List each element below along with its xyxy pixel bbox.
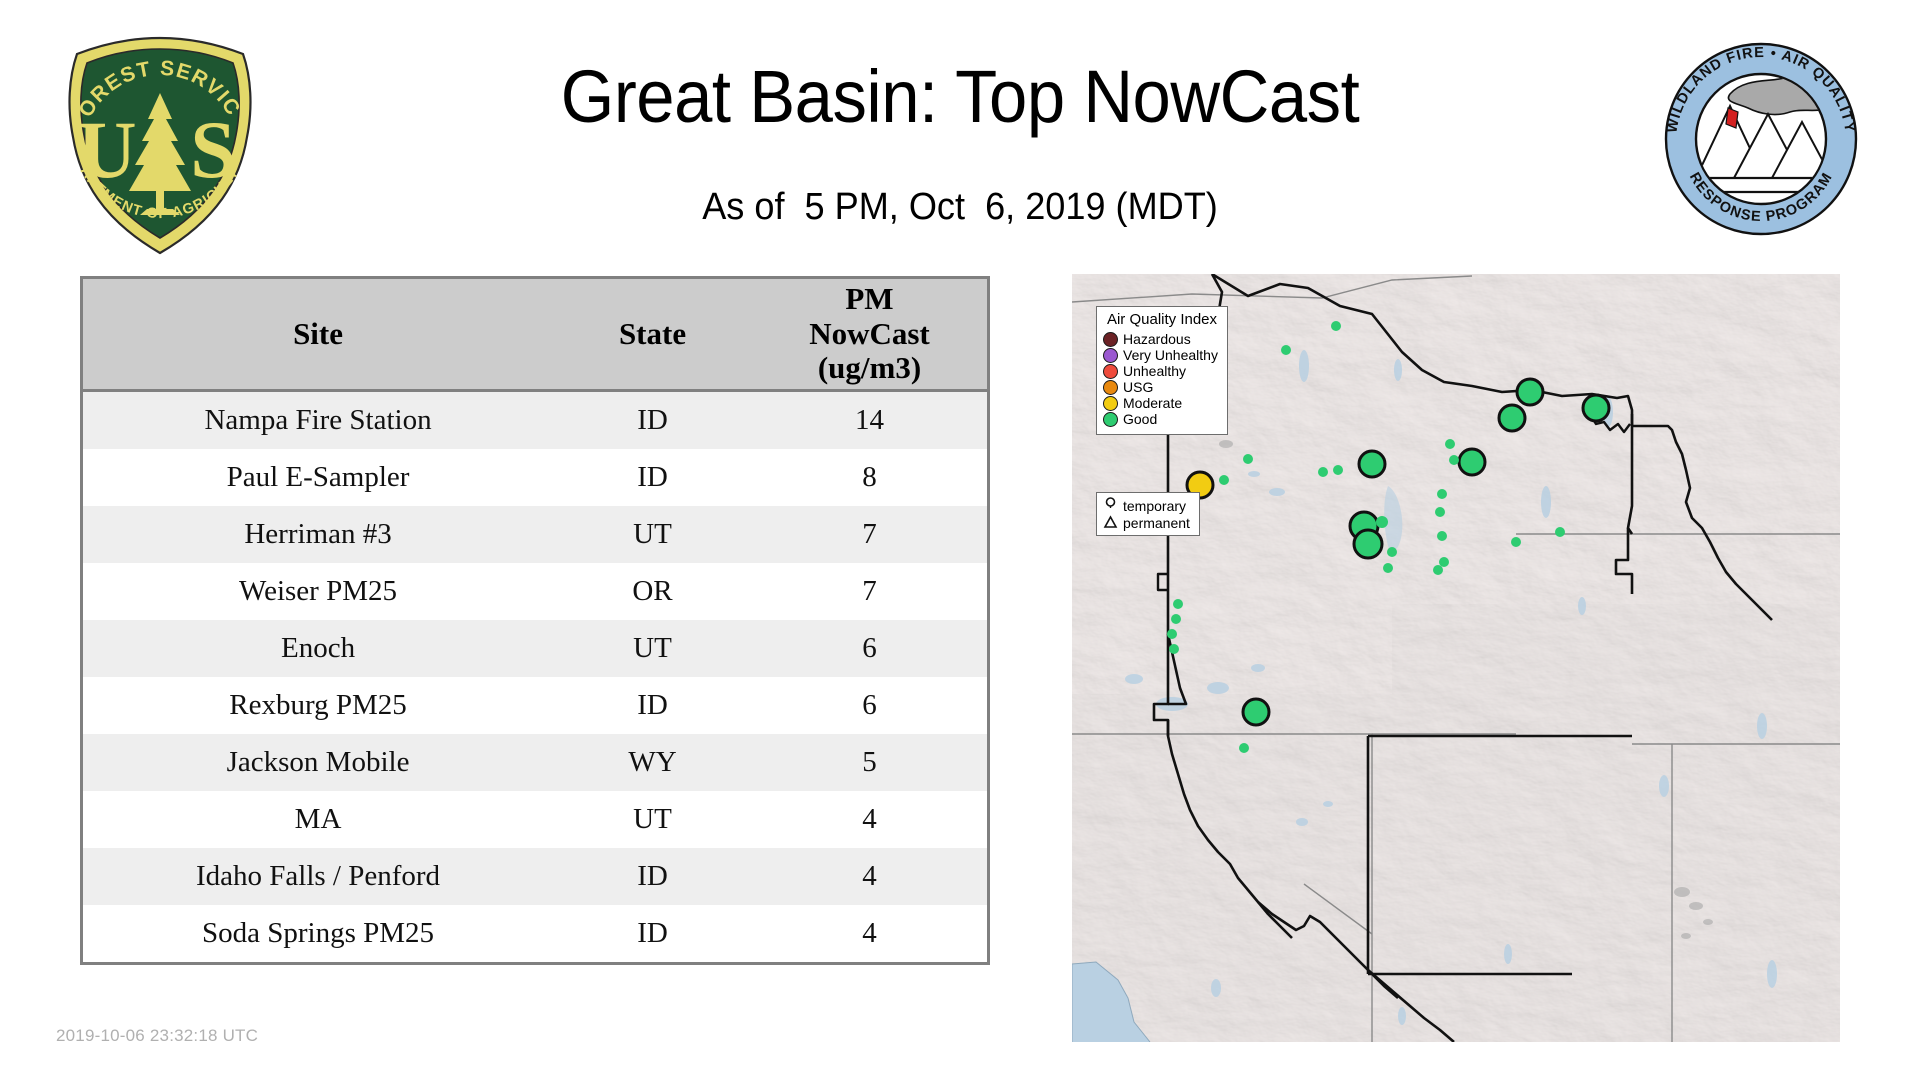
nowcast-table-container: Site State PM NowCast (ug/m3) Nampa Fire… [80,276,990,965]
cell-pm-nowcast: 5 [752,734,987,791]
monitor-marker[interactable] [1439,557,1449,567]
cell-state: ID [553,848,752,905]
aqi-swatch-icon [1103,364,1118,379]
monitor-marker[interactable] [1281,345,1291,355]
table-row: Soda Springs PM25ID4 [83,905,987,962]
page-title: Great Basin: Top NowCast [346,58,1574,136]
monitor-marker[interactable] [1433,565,1443,575]
cell-state: UT [553,506,752,563]
cell-pm-nowcast: 6 [752,677,987,734]
table-row: MAUT4 [83,791,987,848]
nowcast-table: Site State PM NowCast (ug/m3) Nampa Fire… [83,279,987,962]
cell-pm-nowcast: 8 [752,449,987,506]
table-row: EnochUT6 [83,620,987,677]
cell-pm-nowcast: 7 [752,563,987,620]
cell-site: Paul E-Sampler [83,449,553,506]
column-header-pm-line3: (ug/m3) [752,351,987,386]
table-row: Herriman #3UT7 [83,506,987,563]
table-row: Rexburg PM25ID6 [83,677,987,734]
aqi-legend-label: Unhealthy [1123,364,1186,378]
cell-state: OR [553,563,752,620]
air-quality-map[interactable]: Air Quality Index HazardousVery Unhealth… [1072,274,1840,1042]
cell-state: ID [553,677,752,734]
aqi-legend-label: USG [1123,380,1153,394]
monitor-marker[interactable] [1354,530,1382,558]
cell-state: ID [553,449,752,506]
monitor-marker[interactable] [1359,451,1385,477]
table-row: Jackson MobileWY5 [83,734,987,791]
cell-site: Rexburg PM25 [83,677,553,734]
column-header-state: State [553,279,752,391]
monitor-marker[interactable] [1333,465,1343,475]
cell-state: UT [553,620,752,677]
cell-pm-nowcast: 14 [752,391,987,450]
monitor-marker[interactable] [1499,405,1525,431]
page-subtitle: As of 5 PM, Oct 6, 2019 (MDT) [333,186,1587,229]
monitor-marker[interactable] [1437,531,1447,541]
monitor-marker[interactable] [1243,454,1253,464]
cell-site: Nampa Fire Station [83,391,553,450]
table-row: Paul E-SamplerID8 [83,449,987,506]
aqi-legend-row: Very Unhealthy [1103,348,1221,363]
aqi-swatch-icon [1103,396,1118,411]
monitor-marker[interactable] [1171,614,1181,624]
column-header-pm-line2: NowCast [752,317,987,352]
aqi-swatch-icon [1103,348,1118,363]
table-row: Nampa Fire StationID14 [83,391,987,450]
cell-pm-nowcast: 4 [752,791,987,848]
aqi-legend-row: Good [1103,412,1221,427]
cell-site: Herriman #3 [83,506,553,563]
monitor-marker[interactable] [1435,507,1445,517]
table-body: Nampa Fire StationID14Paul E-SamplerID8H… [83,391,987,963]
cell-state: ID [553,905,752,962]
monitor-marker[interactable] [1583,395,1609,421]
legend-label-temporary: temporary [1123,499,1186,513]
aqi-legend-row: Unhealthy [1103,364,1221,379]
monitor-marker[interactable] [1449,455,1459,465]
aqi-swatch-icon [1103,332,1118,347]
cell-pm-nowcast: 6 [752,620,987,677]
cell-state: WY [553,734,752,791]
aqi-legend-row: Hazardous [1103,332,1221,347]
aqi-legend-label: Very Unhealthy [1123,348,1218,362]
legend-label-permanent: permanent [1123,516,1190,530]
monitor-marker[interactable] [1437,489,1447,499]
monitor-marker[interactable] [1239,743,1249,753]
monitor-marker[interactable] [1383,563,1393,573]
monitor-type-legend: temporary permanent [1096,492,1200,536]
column-header-site: Site [83,279,553,391]
legend-row-permanent: permanent [1102,514,1194,531]
cell-site: Idaho Falls / Penford [83,848,553,905]
monitor-marker[interactable] [1331,321,1341,331]
monitor-marker[interactable] [1445,439,1455,449]
aqi-swatch-icon [1103,412,1118,427]
wfaqrp-logo: WILDLAND FIRE • AIR QUALITY RESPONSE PRO… [1660,38,1862,240]
aqi-legend-label: Good [1123,412,1157,426]
monitor-marker[interactable] [1555,527,1565,537]
aqi-legend-rows: HazardousVery UnhealthyUnhealthyUSGModer… [1103,332,1221,427]
aqi-legend-row: USG [1103,380,1221,395]
triangle-marker-icon [1102,514,1119,531]
monitor-marker[interactable] [1387,547,1397,557]
usfs-shield-logo: FOREST SERVICE U S DEPARTMENT OF AGRICUL… [55,35,265,257]
cell-pm-nowcast: 4 [752,848,987,905]
table-row: Weiser PM25OR7 [83,563,987,620]
cell-site: Weiser PM25 [83,563,553,620]
circle-marker-icon [1102,497,1119,514]
monitor-marker[interactable] [1318,467,1328,477]
cell-state: ID [553,391,752,450]
aqi-legend-title: Air Quality Index [1103,312,1221,329]
table-header: Site State PM NowCast (ug/m3) [83,279,987,391]
cell-pm-nowcast: 4 [752,905,987,962]
cell-site: Enoch [83,620,553,677]
monitor-marker[interactable] [1517,379,1543,405]
monitor-marker[interactable] [1219,475,1229,485]
aqi-legend-row: Moderate [1103,396,1221,411]
monitor-marker[interactable] [1376,516,1388,528]
aqi-legend: Air Quality Index HazardousVery Unhealth… [1096,306,1228,435]
monitor-marker[interactable] [1167,629,1177,639]
flame-flag-icon [1726,108,1738,128]
generated-timestamp: 2019-10-06 23:32:18 UTC [56,1026,258,1046]
cell-state: UT [553,791,752,848]
monitor-marker[interactable] [1243,699,1269,725]
monitor-marker[interactable] [1459,449,1485,475]
cell-site: Jackson Mobile [83,734,553,791]
monitor-marker[interactable] [1173,599,1183,609]
monitor-marker[interactable] [1511,537,1521,547]
cell-site: Soda Springs PM25 [83,905,553,962]
table-header-row: Site State PM NowCast (ug/m3) [83,279,987,391]
cell-site: MA [83,791,553,848]
aqi-legend-label: Hazardous [1123,332,1191,346]
aqi-legend-label: Moderate [1123,396,1182,410]
column-header-pm-line1: PM [752,282,987,317]
monitor-marker[interactable] [1169,644,1179,654]
aqi-swatch-icon [1103,380,1118,395]
column-header-pm-nowcast: PM NowCast (ug/m3) [752,279,987,391]
legend-row-temporary: temporary [1102,497,1194,514]
table-row: Idaho Falls / PenfordID4 [83,848,987,905]
cell-pm-nowcast: 7 [752,506,987,563]
